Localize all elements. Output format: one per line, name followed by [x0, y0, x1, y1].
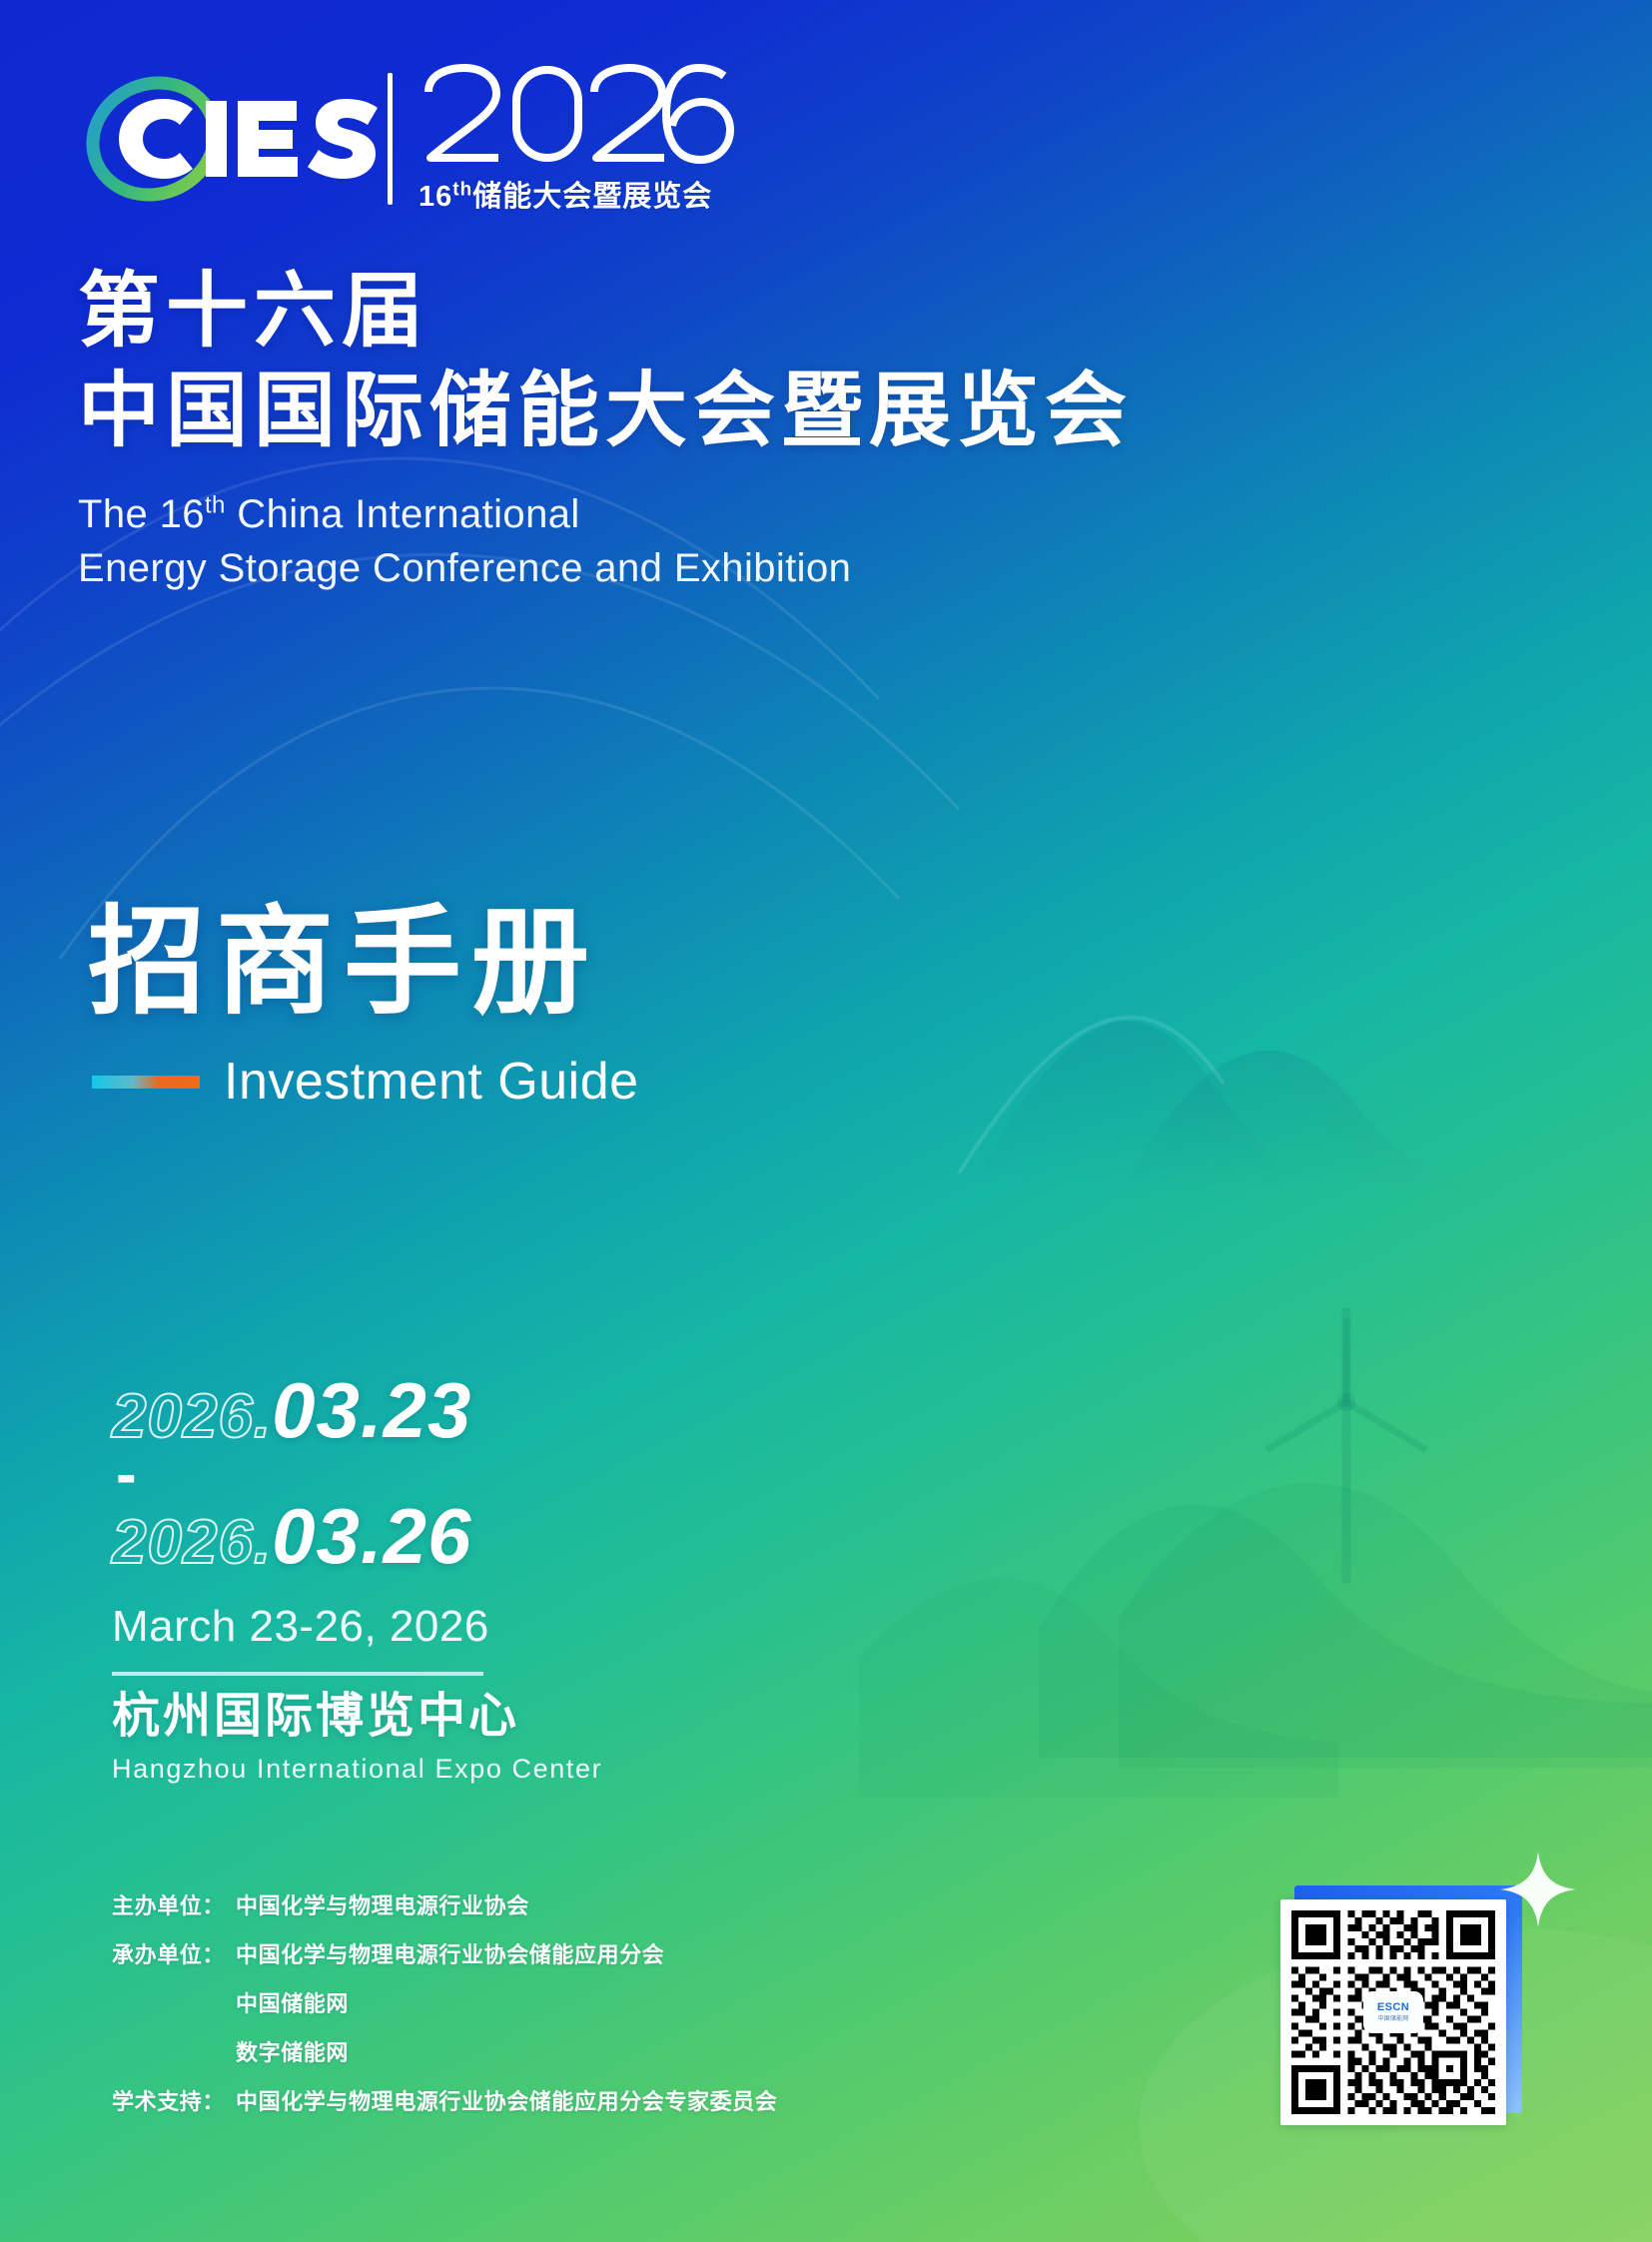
headline-en-line1: The 16th China International: [78, 487, 1133, 541]
date-end-monthday: 03.26: [272, 1496, 471, 1578]
organizer-row: 承办单位： 数字储能网: [112, 2042, 777, 2064]
date-block: 2026. 03.23 - 2026. 03.26 March 23-26, 2…: [112, 1370, 489, 1676]
date-end-year: 2026.: [112, 1510, 272, 1575]
logo-year-block: 16th储能大会暨展览会: [418, 62, 738, 215]
organizer-value: 数字储能网: [236, 2042, 349, 2064]
organizer-row: 承办单位： 中国储能网: [112, 1993, 777, 2015]
poster-canvas: 16th储能大会暨展览会 第十六届 中国国际储能大会暨展览会 The 16th …: [0, 0, 1652, 2242]
date-separator: -: [116, 1458, 489, 1492]
headline-en-line2: Energy Storage Conference and Exhibition: [78, 541, 1133, 595]
cies-logo-icon: [78, 69, 378, 209]
organizer-list: 主办单位： 中国化学与物理电源行业协会 承办单位： 中国化学与物理电源行业协会储…: [112, 1895, 777, 2140]
date-start-monthday: 03.23: [272, 1370, 471, 1452]
organizer-label: 承办单位：: [112, 1944, 236, 1966]
organizer-value: 中国化学与物理电源行业协会储能应用分会专家委员会: [236, 2091, 777, 2113]
organizer-row: 学术支持： 中国化学与物理电源行业协会储能应用分会专家委员会: [112, 2091, 777, 2113]
organizer-value: 中国化学与物理电源行业协会储能应用分会: [236, 1944, 664, 1966]
date-end: 2026. 03.26: [112, 1496, 489, 1578]
guide-title-cn: 招商手册: [88, 904, 639, 1022]
wind-turbine-icon: [1266, 1308, 1426, 1583]
venue-name-cn: 杭州国际博览中心: [112, 1676, 602, 1746]
qr-code-block[interactable]: ESCN 中国储能网: [1280, 1899, 1510, 2129]
qr-center-logo: ESCN 中国储能网: [1365, 1993, 1421, 2031]
date-en-label: March 23-26, 2026: [112, 1602, 489, 1652]
venue-name-en: Hangzhou International Expo Center: [112, 1754, 602, 1785]
organizer-label: 主办单位：: [112, 1895, 236, 1917]
guide-accent-bar: [92, 1076, 200, 1089]
logo-divider: [388, 73, 393, 205]
headline-cn-line2: 中国国际储能大会暨展览会: [78, 362, 1133, 461]
logo-subtitle: 16th储能大会暨展览会: [418, 173, 738, 215]
headline-block: 第十六届 中国国际储能大会暨展览会 The 16th China Interna…: [78, 262, 1133, 595]
headline-en: The 16th China International Energy Stor…: [78, 487, 1133, 595]
organizer-value: 中国储能网: [236, 1993, 349, 2015]
venue-block: 杭州国际博览中心 Hangzhou International Expo Cen…: [112, 1676, 602, 1785]
foreground-hills: [859, 1483, 1652, 1798]
qr-logo-text: ESCN: [1377, 2002, 1409, 2013]
mountain-silhouettes: [959, 1018, 1518, 1198]
brand-lockup: 16th储能大会暨展览会: [78, 62, 738, 215]
guide-title-en: Investment Guide: [224, 1052, 639, 1112]
sparkle-icon: [1498, 1850, 1578, 1929]
headline-cn-line1: 第十六届: [78, 262, 1133, 362]
organizer-value: 中国化学与物理电源行业协会: [236, 1895, 529, 1917]
qr-code-icon[interactable]: ESCN 中国储能网: [1280, 1899, 1506, 2125]
organizer-label: 学术支持：: [112, 2091, 236, 2113]
organizer-row: 主办单位： 中国化学与物理电源行业协会: [112, 1895, 777, 1917]
guide-block: 招商手册 Investment Guide: [88, 904, 639, 1112]
logo-year-icon: [418, 62, 738, 167]
organizer-row: 承办单位： 中国化学与物理电源行业协会储能应用分会: [112, 1944, 777, 1966]
date-start: 2026. 03.23: [112, 1370, 489, 1452]
qr-logo-subtext: 中国储能网: [1377, 2016, 1408, 2022]
